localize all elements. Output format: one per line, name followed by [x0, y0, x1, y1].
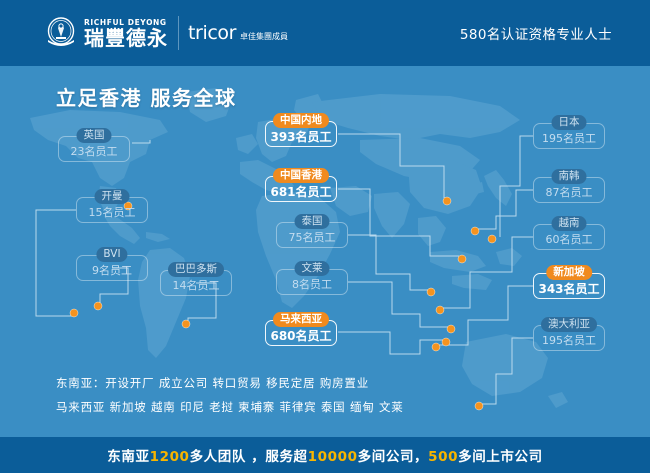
location-badge[interactable]: 巴巴多斯14名员工 [160, 270, 232, 296]
location-name-pill: 英国 [77, 128, 112, 143]
location-headcount: 681名员工 [270, 186, 331, 198]
location-headcount: 195名员工 [542, 133, 596, 145]
location-headcount: 75名员工 [289, 232, 336, 244]
location-badge[interactable]: 英国23名员工 [58, 136, 130, 162]
location-name-pill: 澳大利亚 [541, 317, 597, 332]
brand-logo: RICHFUL DEYONG 瑞豐德永 tricor 卓佳集團成員 [44, 14, 288, 52]
page-footer: 东南亚1200多人团队 ，服务超10000多间公司，500多间上市公司 [0, 437, 650, 473]
location-badge-box: 开曼15名员工 [76, 197, 148, 223]
location-headcount: 60名员工 [546, 234, 593, 246]
location-badge-box: 中国香港681名员工 [265, 176, 337, 202]
location-badge[interactable]: 文莱8名员工 [276, 269, 348, 295]
location-name-pill: 中国内地 [273, 113, 329, 128]
location-badge-box: 南韩87名员工 [533, 177, 605, 203]
location-headcount: 8名员工 [292, 279, 332, 291]
footer-number-team: 1200 [150, 449, 190, 465]
location-badge[interactable]: 新加坡343名员工 [533, 273, 605, 299]
location-headcount: 87名员工 [546, 187, 593, 199]
note-line-countries: 马来西亚 新加坡 越南 印尼 老挝 柬埔寨 菲律宾 泰国 缅甸 文莱 [56, 395, 404, 419]
logo-chinese-name: 瑞豐德永 [84, 28, 168, 49]
location-name-pill: 南韩 [552, 169, 587, 184]
notes-block: 东南亚：开设开厂 成立公司 转口贸易 移民定居 购房置业 马来西亚 新加坡 越南… [56, 371, 404, 419]
location-headcount: 343名员工 [538, 283, 599, 295]
location-name-pill: BVI [96, 247, 127, 262]
crest-emblem-icon [44, 16, 78, 50]
location-badge-box: 日本195名员工 [533, 123, 605, 149]
location-badge-box: 文莱8名员工 [276, 269, 348, 295]
location-badge-box: 中国内地393名员工 [265, 121, 337, 147]
page-header: RICHFUL DEYONG 瑞豐德永 tricor 卓佳集團成員 580名认证… [0, 0, 650, 66]
location-name-pill: 马来西亚 [273, 312, 329, 327]
partner-subtitle: 卓佳集團成員 [240, 31, 288, 43]
location-headcount: 15名员工 [89, 207, 136, 219]
location-badge-box: 泰国75名员工 [276, 222, 348, 248]
infographic-page: RICHFUL DEYONG 瑞豐德永 tricor 卓佳集團成員 580名认证… [0, 0, 650, 473]
location-badge-box: 新加坡343名员工 [533, 273, 605, 299]
location-name-pill: 开曼 [95, 189, 130, 204]
footer-number-companies: 10000 [308, 449, 358, 465]
location-headcount: 23名员工 [71, 146, 118, 158]
location-headcount: 195名员工 [542, 335, 596, 347]
location-badge[interactable]: 开曼15名员工 [76, 197, 148, 223]
location-headcount: 9名员工 [92, 265, 132, 277]
location-headcount: 14名员工 [173, 280, 220, 292]
logo-divider [178, 16, 179, 50]
location-name-pill: 越南 [552, 216, 587, 231]
location-badge[interactable]: 澳大利亚195名员工 [533, 325, 605, 351]
footer-part-4: 多间上市公司 [458, 449, 543, 465]
location-badge-box: 澳大利亚195名员工 [533, 325, 605, 351]
location-badge[interactable]: 越南60名员工 [533, 224, 605, 250]
map-section: 立足香港 服务全球 英国23名员工开曼15名员工BVI9名员工巴巴多斯14名员工… [0, 66, 650, 437]
note-line-services: 东南亚：开设开厂 成立公司 转口贸易 移民定居 购房置业 [56, 371, 404, 395]
partner-logo: tricor 卓佳集團成員 [188, 24, 288, 43]
location-badge[interactable]: 南韩87名员工 [533, 177, 605, 203]
header-stat-text: 580名认证资格专业人士 [460, 0, 612, 66]
location-badge-box: 马来西亚680名员工 [265, 320, 337, 346]
location-badge[interactable]: 日本195名员工 [533, 123, 605, 149]
footer-number-listed: 500 [428, 449, 458, 465]
location-name-pill: 中国香港 [273, 168, 329, 183]
page-title: 立足香港 服务全球 [56, 82, 236, 111]
location-badge[interactable]: BVI9名员工 [76, 255, 148, 281]
location-name-pill: 文莱 [295, 261, 330, 276]
location-name-pill: 新加坡 [546, 265, 592, 280]
footer-part-3: 多间公司， [358, 449, 429, 465]
location-name-pill: 泰国 [295, 214, 330, 229]
location-badge[interactable]: 马来西亚680名员工 [265, 320, 337, 346]
location-badge[interactable]: 中国香港681名员工 [265, 176, 337, 202]
footer-summary-text: 东南亚1200多人团队 ，服务超10000多间公司，500多间上市公司 [107, 445, 542, 465]
location-badge[interactable]: 中国内地393名员工 [265, 121, 337, 147]
location-name-pill: 日本 [552, 115, 587, 130]
location-badge-box: 越南60名员工 [533, 224, 605, 250]
footer-part-2: 多人团队 ，服务超 [190, 449, 308, 465]
footer-part-1: 东南亚 [107, 449, 149, 465]
location-badge[interactable]: 泰国75名员工 [276, 222, 348, 248]
partner-name: tricor [188, 24, 236, 43]
location-badge-box: 巴巴多斯14名员工 [160, 270, 232, 296]
location-badge-box: BVI9名员工 [76, 255, 148, 281]
location-headcount: 680名员工 [270, 330, 331, 342]
location-badge-box: 英国23名员工 [58, 136, 130, 162]
location-headcount: 393名员工 [270, 131, 331, 143]
location-name-pill: 巴巴多斯 [168, 262, 224, 277]
